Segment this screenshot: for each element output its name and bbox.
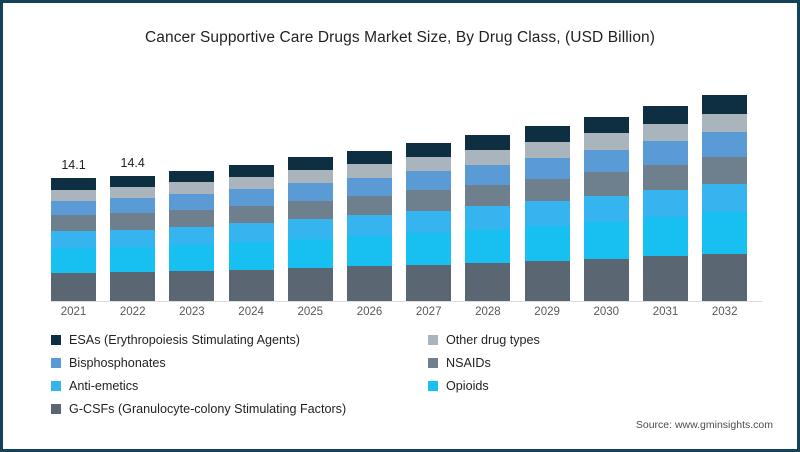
bar-segment: [229, 270, 274, 301]
bar-segment: [643, 124, 688, 142]
bar-segment: [110, 230, 155, 248]
bar-segment: [110, 176, 155, 187]
legend-item[interactable]: Bisphosphonates: [51, 356, 166, 370]
bar-segment: [465, 263, 510, 301]
bar-segment: [406, 171, 451, 190]
bar-segment: [584, 117, 629, 134]
stacked-bar[interactable]: [51, 178, 96, 301]
legend-item[interactable]: Opioids: [428, 379, 489, 393]
stacked-bar[interactable]: [702, 95, 747, 301]
x-axis-tick-2027: 2027: [406, 306, 451, 318]
stacked-bar[interactable]: [229, 165, 274, 301]
bar-segment: [169, 227, 214, 245]
bar-segment: [169, 194, 214, 210]
bar-segment: [406, 157, 451, 171]
legend-label: Bisphosphonates: [69, 356, 166, 370]
bar-segment: [525, 179, 570, 202]
stacked-bar[interactable]: [347, 151, 392, 301]
bar-segment: [51, 190, 96, 201]
legend-swatch-icon: [428, 381, 438, 391]
bar-segment: [584, 133, 629, 150]
bar-segment: [51, 178, 96, 189]
bar-segment: [288, 183, 333, 200]
bar-segment: [288, 239, 333, 268]
bar-segment: [288, 219, 333, 239]
bar-segment: [465, 206, 510, 229]
bar-segment: [347, 266, 392, 301]
bar-segment: [643, 190, 688, 217]
bar-segment: [702, 114, 747, 133]
x-axis-tick-2029: 2029: [525, 306, 570, 318]
stacked-bar[interactable]: [110, 176, 155, 301]
legend-swatch-icon: [51, 404, 61, 414]
bar-segment: [406, 233, 451, 265]
legend-item[interactable]: G-CSFs (Granulocyte-colony Stimulating F…: [51, 402, 346, 416]
legend-label: ESAs (Erythropoiesis Stimulating Agents): [69, 333, 300, 347]
x-axis-tick-2032: 2032: [702, 306, 747, 318]
bar-segment: [525, 261, 570, 301]
x-axis-tick-2026: 2026: [347, 306, 392, 318]
x-axis-tick-2028: 2028: [465, 306, 510, 318]
stacked-bar[interactable]: [643, 106, 688, 301]
bar-segment: [288, 170, 333, 183]
bar-segment: [584, 259, 629, 301]
bar-segment: [110, 198, 155, 213]
bar-segment: [347, 178, 392, 196]
bar-segment: [525, 226, 570, 261]
bar-segment: [465, 135, 510, 150]
bar-segment: [110, 187, 155, 198]
bar-segment: [584, 172, 629, 196]
bar-segment: [702, 132, 747, 157]
plot-area: 14.114.4: [51, 75, 761, 301]
bar-segment: [643, 106, 688, 124]
legend-item[interactable]: Anti-emetics: [51, 379, 138, 393]
x-axis-line: [51, 301, 763, 302]
bar-segment: [110, 247, 155, 272]
legend-swatch-icon: [428, 358, 438, 368]
bar-segment: [465, 150, 510, 165]
bar-segment: [525, 142, 570, 158]
bar-segment: [525, 126, 570, 142]
bar-segment: [465, 230, 510, 263]
bar-segment: [169, 210, 214, 227]
bar-segment: [406, 265, 451, 301]
legend-item[interactable]: NSAIDs: [428, 356, 491, 370]
bar-segment: [643, 256, 688, 301]
bar-segment: [702, 184, 747, 213]
bar-segment: [169, 271, 214, 301]
x-axis-tick-2021: 2021: [51, 306, 96, 318]
bar-segment: [406, 211, 451, 233]
legend-label: Anti-emetics: [69, 379, 138, 393]
bar-segment: [465, 165, 510, 185]
x-axis-tick-2030: 2030: [584, 306, 629, 318]
chart-figure: Cancer Supportive Care Drugs Market Size…: [0, 0, 800, 452]
bar-segment: [229, 177, 274, 189]
bar-segment: [702, 157, 747, 184]
chart-title: Cancer Supportive Care Drugs Market Size…: [3, 29, 797, 47]
bar-segment: [406, 190, 451, 211]
stacked-bar[interactable]: [406, 143, 451, 301]
bar-segment: [347, 215, 392, 236]
bar-segment: [643, 217, 688, 256]
x-axis-tick-2025: 2025: [288, 306, 333, 318]
bar-segment: [51, 273, 96, 301]
bar-segment: [465, 185, 510, 207]
x-axis-tick-2022: 2022: [110, 306, 155, 318]
bar-segment: [525, 158, 570, 179]
bar-segment: [347, 236, 392, 266]
bar-segment: [347, 164, 392, 178]
x-axis-tick-2023: 2023: [169, 306, 214, 318]
legend-item[interactable]: Other drug types: [428, 333, 540, 347]
legend-swatch-icon: [51, 358, 61, 368]
legend-label: Opioids: [446, 379, 489, 393]
stacked-bar[interactable]: [169, 171, 214, 301]
bar-segment: [110, 272, 155, 301]
bar-segment: [229, 223, 274, 242]
legend-swatch-icon: [428, 335, 438, 345]
stacked-bar[interactable]: [525, 126, 570, 301]
bar-segment: [229, 206, 274, 224]
bar-segment: [169, 182, 214, 194]
bar-segment: [288, 268, 333, 301]
bar-segment: [51, 215, 96, 231]
bar-segment: [288, 157, 333, 170]
bar-segment: [347, 151, 392, 165]
legend-label: G-CSFs (Granulocyte-colony Stimulating F…: [69, 402, 346, 416]
bar-segment: [584, 196, 629, 222]
bar-value-label: 14.1: [61, 158, 85, 172]
bar-segment: [229, 242, 274, 269]
x-axis-tick-2031: 2031: [643, 306, 688, 318]
bar-segment: [347, 196, 392, 216]
bar-segment: [169, 171, 214, 183]
bar-segment: [702, 212, 747, 253]
bar-segment: [584, 150, 629, 172]
bar-segment: [406, 143, 451, 157]
bar-segment: [51, 248, 96, 273]
bar-segment: [229, 189, 274, 205]
legend-label: Other drug types: [446, 333, 540, 347]
bar-segment: [110, 213, 155, 229]
stacked-bar[interactable]: [288, 157, 333, 301]
bar-value-label: 14.4: [121, 156, 145, 170]
bar-segment: [51, 231, 96, 248]
bar-segment: [525, 201, 570, 225]
x-axis-tick-2024: 2024: [229, 306, 274, 318]
bar-segment: [702, 254, 747, 301]
legend-item[interactable]: ESAs (Erythropoiesis Stimulating Agents): [51, 333, 300, 347]
stacked-bar[interactable]: [584, 117, 629, 301]
stacked-bar[interactable]: [465, 135, 510, 301]
legend-swatch-icon: [51, 381, 61, 391]
bar-segment: [51, 201, 96, 216]
legend-label: NSAIDs: [446, 356, 491, 370]
bar-segment: [584, 222, 629, 259]
bar-segment: [288, 201, 333, 220]
bar-segment: [229, 165, 274, 177]
bar-segment: [643, 141, 688, 164]
bar-segment: [702, 95, 747, 114]
bar-segment: [169, 245, 214, 271]
legend-swatch-icon: [51, 335, 61, 345]
bar-segment: [643, 165, 688, 190]
source-note: Source: www.gminsights.com: [636, 419, 773, 431]
